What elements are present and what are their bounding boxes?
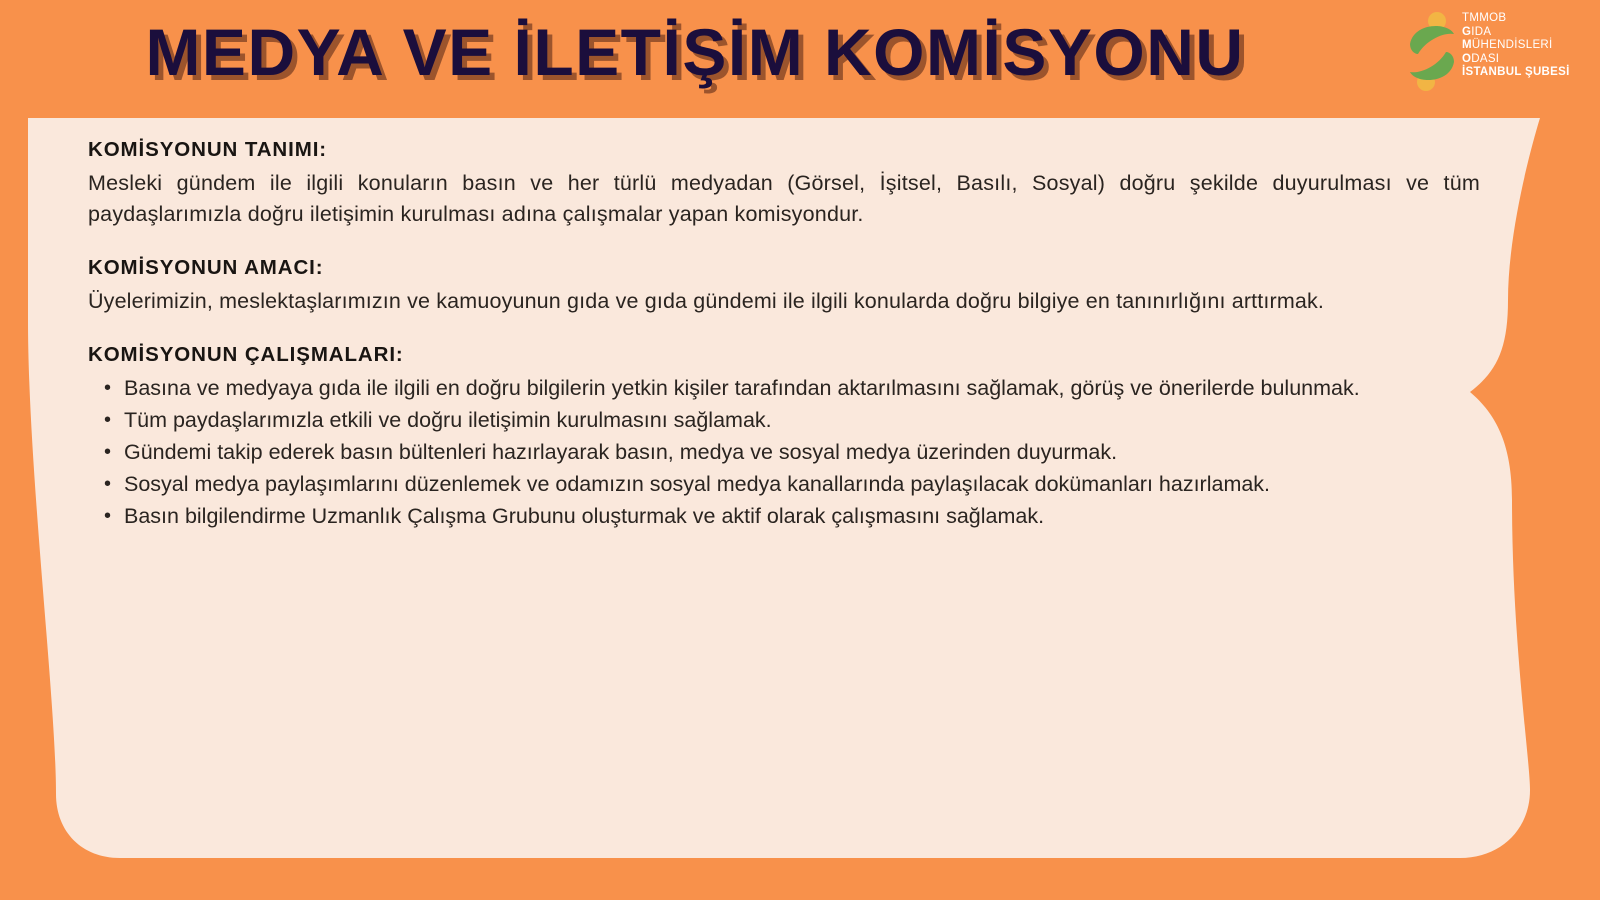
section-amaci: KOMİSYONUN AMACI: Üyelerimizin, meslekta… [88, 256, 1480, 317]
logo-line-gida: GIDA [1462, 26, 1570, 40]
list-item: Tüm paydaşlarımızla etkili ve doğru ilet… [124, 405, 1480, 436]
logo-text-block: TMMOB GIDA MÜHENDİSLERİ ODASI İSTANBUL Ş… [1462, 12, 1570, 80]
logo-odasi-rest: DASI [1471, 53, 1499, 65]
logo-muhendisleri-initial: M [1462, 39, 1472, 51]
list-item: Gündemi takip ederek basın bültenleri ha… [124, 437, 1480, 468]
logo-gida-rest: IDA [1471, 26, 1491, 38]
logo-muhendisleri-rest: ÜHENDİSLERİ [1472, 39, 1553, 51]
section-tanimi: KOMİSYONUN TANIMI: Mesleki gündem ile il… [88, 138, 1480, 230]
slide-header: MEDYA VE İLETİŞİM KOMİSYONU TMMOB GIDA M… [0, 0, 1600, 120]
section-tanimi-body: Mesleki gündem ile ilgili konuların bası… [88, 168, 1480, 230]
section-calismalari: KOMİSYONUN ÇALIŞMALARI: Basına ve medyay… [88, 343, 1480, 532]
logo-line-tmmob: TMMOB [1462, 12, 1570, 26]
calismalari-bullet-list: Basına ve medyaya gıda ile ilgili en doğ… [88, 373, 1480, 532]
list-item: Basına ve medyaya gıda ile ilgili en doğ… [124, 373, 1480, 404]
card-content: KOMİSYONUN TANIMI: Mesleki gündem ile il… [88, 138, 1480, 533]
section-amaci-heading: KOMİSYONUN AMACI: [88, 256, 1480, 280]
section-tanimi-heading: KOMİSYONUN TANIMI: [88, 138, 1480, 162]
list-item: Sosyal medya paylaşımlarını düzenlemek v… [124, 469, 1480, 500]
logo-odasi-initial: O [1462, 53, 1471, 65]
logo-line-istanbul-subesi: İSTANBUL ŞUBESİ [1462, 66, 1570, 80]
logo-line-odasi: ODASI [1462, 53, 1570, 67]
page-title: MEDYA VE İLETİŞİM KOMİSYONU [0, 14, 1390, 90]
logo-gida-initial: G [1462, 26, 1471, 38]
section-amaci-body: Üyelerimizin, meslektaşlarımızın ve kamu… [88, 286, 1480, 317]
section-calismalari-heading: KOMİSYONUN ÇALIŞMALARI: [88, 343, 1480, 367]
organization-logo: TMMOB GIDA MÜHENDİSLERİ ODASI İSTANBUL Ş… [1404, 6, 1594, 98]
logo-line-muhendisleri: MÜHENDİSLERİ [1462, 39, 1570, 53]
logo-mark-icon [1404, 10, 1460, 94]
slide-root: MEDYA VE İLETİŞİM KOMİSYONU TMMOB GIDA M… [0, 0, 1600, 900]
list-item: Basın bilgilendirme Uzmanlık Çalışma Gru… [124, 501, 1480, 532]
